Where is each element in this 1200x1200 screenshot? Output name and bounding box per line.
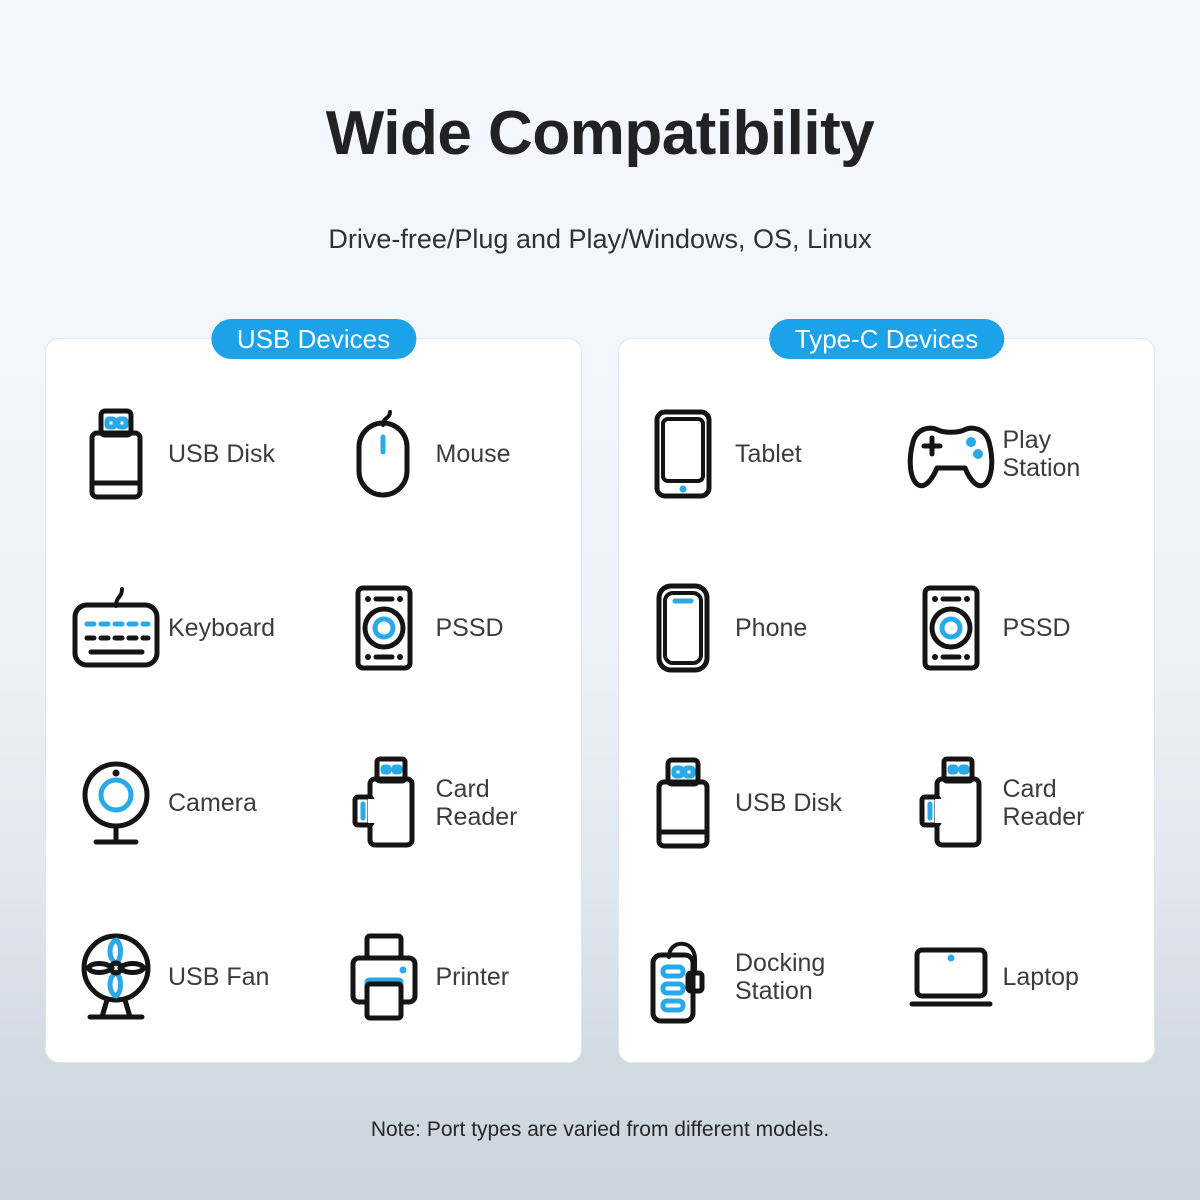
device-item-phone: Phone <box>619 541 887 715</box>
device-item-printer: Printer <box>314 890 582 1064</box>
card-reader-typec-icon <box>915 757 987 849</box>
device-label: Camera <box>168 789 257 817</box>
page-title: Wide Compatibility <box>0 98 1200 169</box>
laptop-icon <box>915 931 987 1023</box>
compatibility-infographic: Wide Compatibility Drive-free/Plug and P… <box>0 0 1200 1200</box>
device-label: Mouse <box>436 440 511 468</box>
phone-icon <box>647 582 719 674</box>
gamepad-icon <box>915 408 987 500</box>
device-label: Card Reader <box>1003 775 1085 831</box>
typec-devices-pill: Type-C Devices <box>769 319 1005 359</box>
device-item-usb-disk: USB Disk <box>46 367 314 541</box>
printer-icon <box>348 931 420 1023</box>
keyboard-icon <box>80 582 152 674</box>
device-item-pssd: PSSD <box>887 541 1155 715</box>
device-label: Card Reader <box>436 775 518 831</box>
device-label: PSSD <box>436 614 504 642</box>
pssd-icon <box>348 582 420 674</box>
device-item-docking-station: Docking Station <box>619 890 887 1064</box>
device-label: Laptop <box>1003 963 1079 991</box>
device-item-mouse: Mouse <box>314 367 582 541</box>
device-label: USB Disk <box>735 789 842 817</box>
device-label: PSSD <box>1003 614 1071 642</box>
device-label: Printer <box>436 963 510 991</box>
device-item-pssd: PSSD <box>314 541 582 715</box>
device-label: USB Fan <box>168 963 269 991</box>
device-label: Keyboard <box>168 614 275 642</box>
typec-devices-grid: Tablet <box>619 367 1154 1064</box>
usb-devices-card: USB Devices USB Disk <box>45 338 582 1063</box>
device-label: USB Disk <box>168 440 275 468</box>
device-item-tablet: Tablet <box>619 367 887 541</box>
device-item-playstation: Play Station <box>887 367 1155 541</box>
device-item-keyboard: Keyboard <box>46 541 314 715</box>
usb-disk-icon <box>80 408 152 500</box>
pssd-icon <box>915 582 987 674</box>
device-label: Docking Station <box>735 949 825 1005</box>
device-item-laptop: Laptop <box>887 890 1155 1064</box>
device-label: Tablet <box>735 440 802 468</box>
usb-disk-icon <box>647 757 719 849</box>
device-item-usb-disk: USB Disk <box>619 716 887 890</box>
device-label: Play Station <box>1003 426 1081 482</box>
footer-note: Note: Port types are varied from differe… <box>0 1118 1200 1142</box>
device-item-camera: Camera <box>46 716 314 890</box>
typec-devices-card: Type-C Devices Tablet <box>618 338 1155 1063</box>
docking-station-icon <box>647 931 719 1023</box>
device-label: Phone <box>735 614 807 642</box>
device-item-usb-fan: USB Fan <box>46 890 314 1064</box>
camera-icon <box>80 757 152 849</box>
usb-devices-pill: USB Devices <box>211 319 416 359</box>
usb-fan-icon <box>80 931 152 1023</box>
device-item-card-reader: Card Reader <box>887 716 1155 890</box>
card-reader-icon <box>348 757 420 849</box>
tablet-icon <box>647 408 719 500</box>
usb-devices-grid: USB Disk Mouse <box>46 367 581 1064</box>
device-cards: USB Devices USB Disk <box>45 338 1155 1063</box>
device-item-card-reader: Card Reader <box>314 716 582 890</box>
mouse-icon <box>348 408 420 500</box>
page-subtitle: Drive-free/Plug and Play/Windows, OS, Li… <box>0 224 1200 255</box>
